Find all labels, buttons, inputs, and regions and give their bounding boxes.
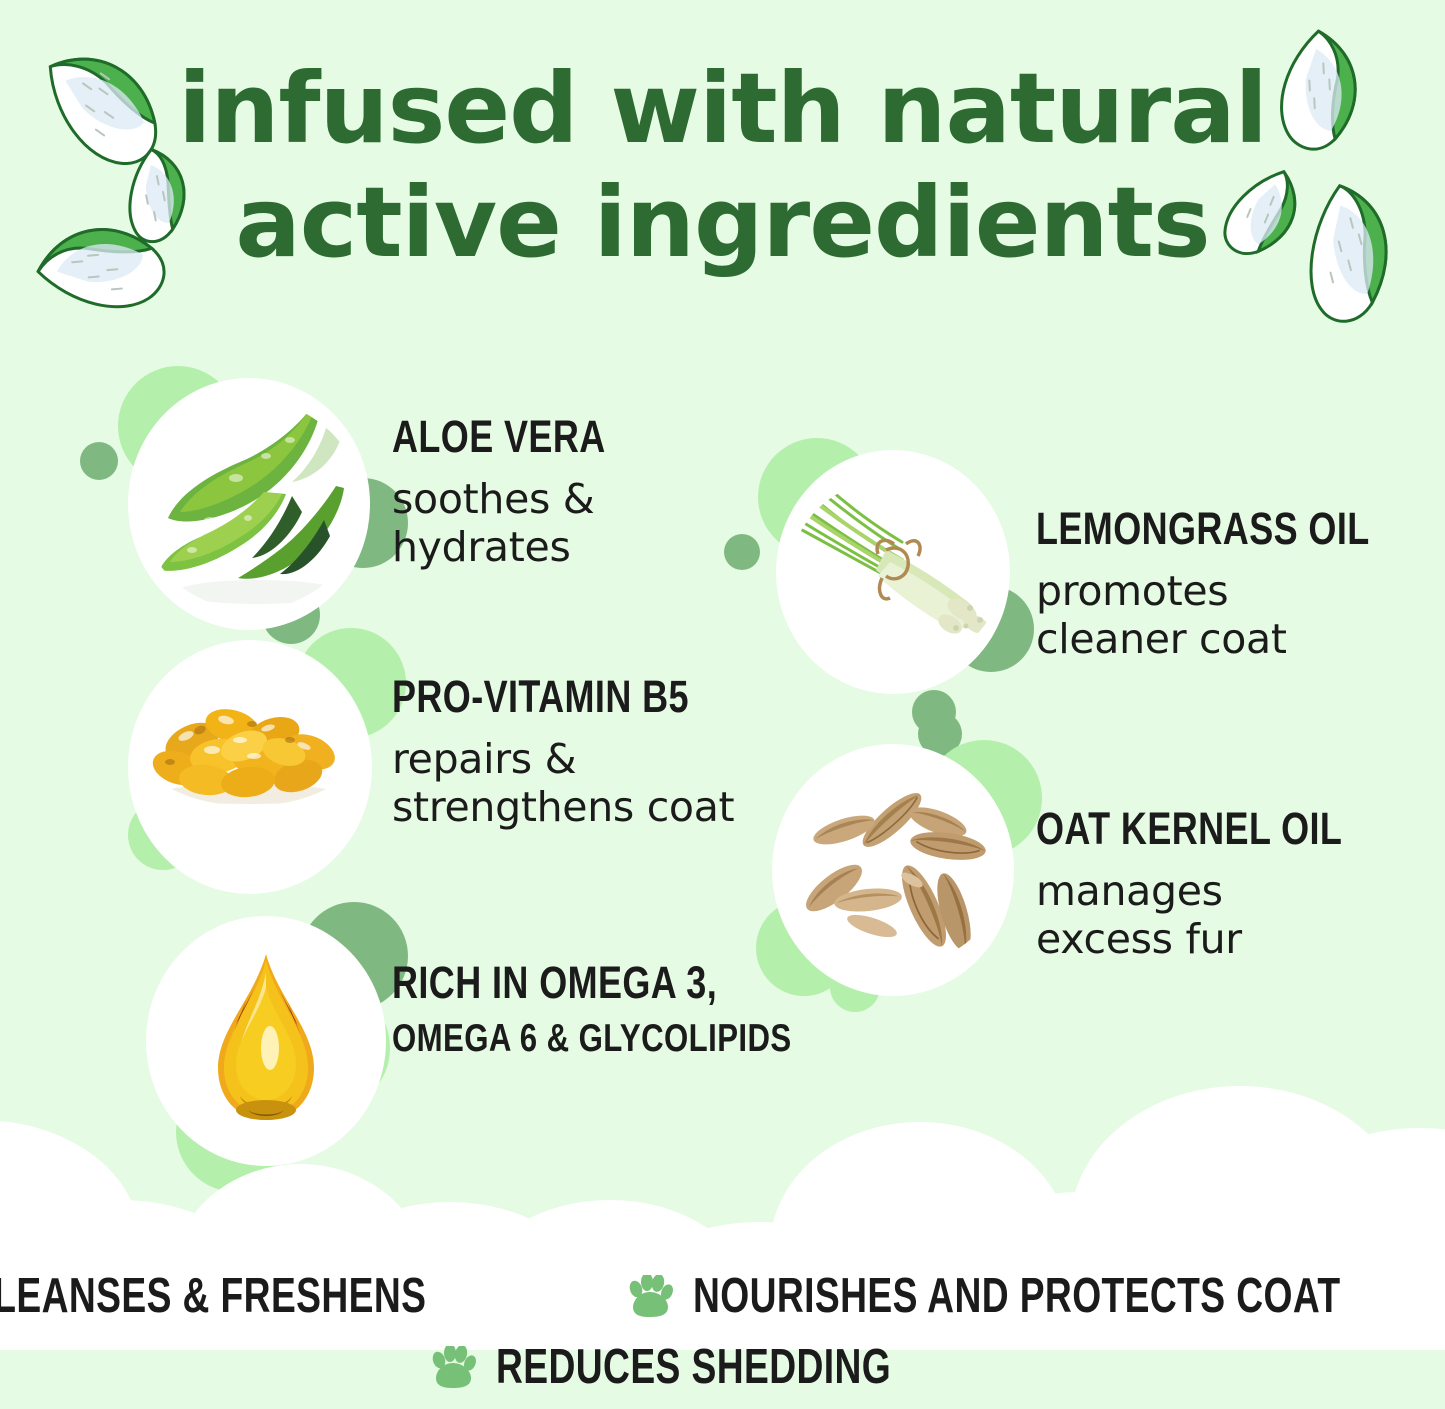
- headline-line-2: active ingredients: [0, 166, 1445, 280]
- description-line-1: soothes &: [392, 475, 659, 523]
- description-line-2: hydrates: [392, 523, 659, 571]
- accent-dot: [80, 442, 118, 480]
- benefit-item: CLEANSES & FRESHENS: [0, 1272, 571, 1321]
- description-line-2: cleaner coat: [1036, 615, 1445, 663]
- accent-dot: [724, 534, 760, 570]
- ingredient-text: PRO-VITAMIN B5 repairs & strengthens coa…: [392, 674, 763, 832]
- ingredient-text: LEMONGRASS OIL promotes cleaner coat: [1036, 506, 1445, 664]
- lemongrass-bundle-photo: [790, 478, 1002, 668]
- description-line-2: strengthens coat: [392, 783, 763, 831]
- paw-print-icon: [627, 1275, 673, 1319]
- ingredient-text: OAT KERNEL OIL manages excess fur: [1036, 806, 1419, 964]
- description-line-1: repairs &: [392, 735, 763, 783]
- ingredient-text: ALOE VERA soothes & hydrates: [392, 414, 659, 572]
- ingredient-description: manages excess fur: [1036, 867, 1419, 964]
- benefit-item: REDUCES SHEDDING: [430, 1343, 1016, 1392]
- benefits-list: CLEANSES & FRESHENS NOURISHES AND PR: [0, 1272, 1445, 1392]
- benefits-row-1: CLEANSES & FRESHENS NOURISHES AND PR: [0, 1272, 1445, 1321]
- ingredient-description: repairs & strengthens coat: [392, 735, 763, 832]
- description-line-1: promotes: [1036, 567, 1445, 615]
- ingredient-title: OAT KERNEL OIL: [1036, 806, 1342, 851]
- benefits-row-2: REDUCES SHEDDING: [0, 1343, 1445, 1392]
- aloe-vera-leaves-photo: [140, 400, 362, 610]
- ingredient-title: ALOE VERA: [392, 414, 606, 459]
- ingredient-title: RICH IN OMEGA 3,: [392, 960, 792, 1005]
- ingredient-title: LEMONGRASS OIL: [1036, 506, 1370, 551]
- headline-line-1: infused with natural: [178, 52, 1267, 165]
- benefit-label: NOURISHES AND PROTECTS COAT: [693, 1272, 1341, 1321]
- description-line-1: manages: [1036, 867, 1419, 915]
- page-title: infused with natural active ingredients: [0, 52, 1445, 281]
- ingredients-infographic: infused with natural active ingredients: [0, 0, 1445, 1409]
- benefit-item: NOURISHES AND PROTECTS COAT: [627, 1272, 1445, 1321]
- ingredient-text: RICH IN OMEGA 3, OMEGA 6 & GLYCOLIPIDS: [392, 960, 892, 1058]
- oat-grains-photo: [796, 776, 1002, 966]
- ingredient-title: PRO-VITAMIN B5: [392, 674, 689, 719]
- benefit-label: CLEANSES & FRESHENS: [0, 1272, 426, 1321]
- description-line-2: excess fur: [1036, 915, 1419, 963]
- ingredient-description: promotes cleaner coat: [1036, 567, 1445, 664]
- gel-capsules-photo: [140, 690, 358, 806]
- ingredient-description: soothes & hydrates: [392, 475, 659, 572]
- paw-print-icon: [430, 1346, 476, 1390]
- benefit-label: REDUCES SHEDDING: [496, 1343, 891, 1392]
